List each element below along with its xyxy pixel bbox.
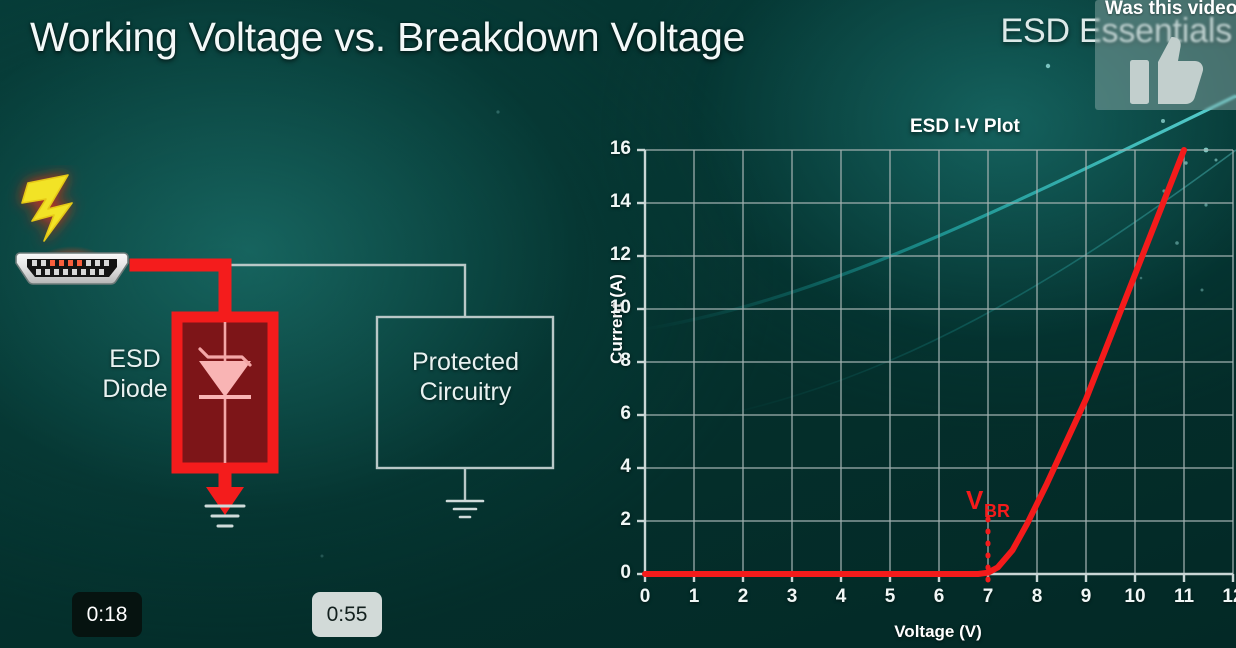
iv-chart: ESD I-V Plot Current (A) Voltage (V) VBR… [578,104,1236,648]
svg-text:V: V [966,485,984,515]
protected-label-line1: Protected [378,348,553,378]
circuit-diagram: ESD Diode Protected Circuitry [0,165,600,565]
page-title: Working Voltage vs. Breakdown Voltage [30,14,745,61]
x-tick-label: 6 [919,586,959,608]
y-tick-label: 10 [585,297,631,319]
x-tick-label: 12 [1213,586,1236,608]
x-tick-label: 5 [870,586,910,608]
x-tick-label: 3 [772,586,812,608]
video-feedback-overlay[interactable]: Was this video [1095,0,1236,110]
hdmi-connector-icon [16,246,128,284]
ground-symbol-icon [447,501,483,517]
y-tick-label: 4 [585,456,631,478]
esd-diode-component [177,317,273,468]
y-tick-label: 14 [585,191,631,213]
chart-plot-area: VBR [578,104,1236,648]
x-tick-label: 10 [1115,586,1155,608]
protected-circuitry-label: Protected Circuitry [378,348,553,407]
x-tick-label: 1 [674,586,714,608]
x-tick-label: 4 [821,586,861,608]
x-tick-label: 2 [723,586,763,608]
esd-diode-label-line1: ESD [80,345,190,375]
lightning-bolt-icon [22,175,72,241]
y-tick-label: 16 [585,138,631,160]
timestamp-current[interactable]: 0:18 [72,592,142,637]
y-tick-label: 0 [585,562,631,584]
timestamp-total[interactable]: 0:55 [312,592,382,637]
surge-ground-arrow [206,487,244,526]
y-tick-label: 6 [585,403,631,425]
protected-label-line2: Circuitry [378,378,553,408]
x-axis-title: Voltage (V) [848,622,1028,642]
y-tick-label: 8 [585,350,631,372]
thumb-up-icon[interactable] [1130,34,1208,106]
x-tick-label: 8 [1017,586,1057,608]
x-tick-label: 0 [625,586,665,608]
svg-text:BR: BR [984,501,1010,521]
y-tick-label: 2 [585,509,631,531]
x-tick-label: 11 [1164,586,1204,608]
x-tick-label: 9 [1066,586,1106,608]
feedback-prompt-text: Was this video [1105,0,1236,20]
chart-title: ESD I-V Plot [578,116,1236,138]
esd-diode-label: ESD Diode [80,345,190,404]
x-tick-label: 7 [968,586,1008,608]
esd-diode-label-line2: Diode [80,375,190,405]
y-tick-label: 12 [585,244,631,266]
